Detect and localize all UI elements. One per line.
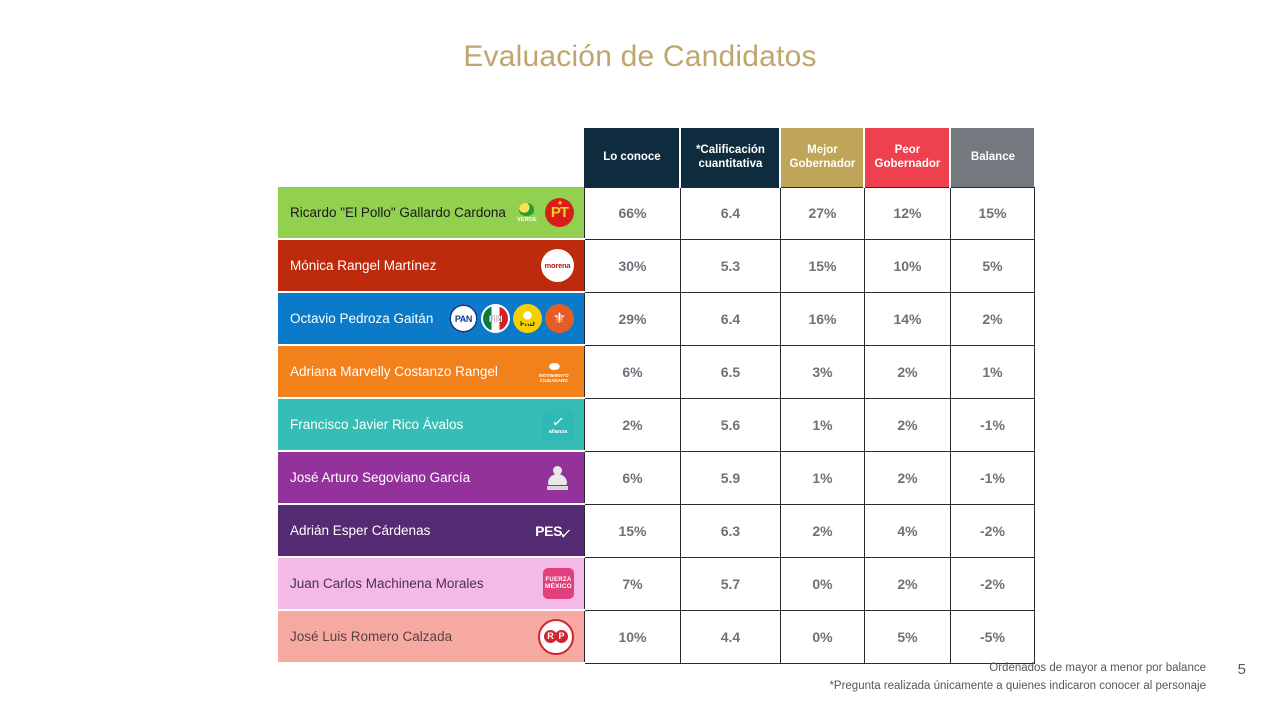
party-logos: RP (538, 619, 574, 655)
mc-label: MOVIMIENTO CIUDADANO (534, 374, 574, 383)
verde-label: VERDE (517, 217, 537, 223)
header-peor-line2: Gobernador (875, 158, 941, 170)
cell-peor-gobernador: 10% (864, 239, 950, 292)
table-row: Mónica Rangel Martínezmorena30%5.315%10%… (278, 239, 1034, 292)
cell-mejor-gobernador: 2% (780, 504, 864, 557)
candidate-name-cell: Octavio Pedroza GaitánPANPRIPRD⚜ (278, 292, 584, 345)
encuentro-social-person-icon (542, 462, 574, 494)
cell-lo-conoce: 6% (584, 345, 680, 398)
candidate-name-cell: José Luis Romero CalzadaRP (278, 610, 584, 663)
candidate-name: José Luis Romero Calzada (290, 629, 452, 644)
cell-lo-conoce: 29% (584, 292, 680, 345)
cell-balance: -1% (950, 451, 1034, 504)
prd-sun-icon (521, 309, 534, 322)
pan-ring-icon: PAN (449, 304, 478, 333)
footnote-ordering: Ordenados de mayor a menor por balance (829, 660, 1206, 678)
pri-icon: PRI (481, 304, 510, 333)
cell-calificacion: 5.7 (680, 557, 780, 610)
cell-mejor-gobernador: 0% (780, 610, 864, 663)
cell-peor-gobernador: 2% (864, 451, 950, 504)
verde-icon: VERDE (512, 199, 542, 227)
cell-calificacion: 5.3 (680, 239, 780, 292)
cell-peor-gobernador: 14% (864, 292, 950, 345)
cell-calificacion: 4.4 (680, 610, 780, 663)
header-balance: Balance (950, 128, 1034, 187)
party-logos: VERDE★PT (512, 198, 574, 227)
mc-wing-icon: ⬬ (549, 360, 559, 373)
cell-lo-conoce: 7% (584, 557, 680, 610)
header-mejor-line2: Gobernador (790, 158, 856, 170)
cell-balance: 1% (950, 345, 1034, 398)
candidate-name-cell: Juan Carlos Machinena MoralesFUERZAMÉXIC… (278, 557, 584, 610)
party-logos: ✓alianza (542, 409, 574, 441)
fuerza-label-line2: MÉXICO (545, 583, 572, 590)
candidate-name: Francisco Javier Rico Ávalos (290, 417, 463, 432)
party-logos (542, 462, 574, 494)
header-blank-cell (278, 128, 584, 187)
cell-peor-gobernador: 2% (864, 345, 950, 398)
header-lo-conoce: Lo conoce (584, 128, 680, 187)
morena-label: morena (545, 261, 571, 270)
party-logos: ⬬MOVIMIENTO CIUDADANO (534, 357, 574, 387)
slide: Evaluación de Candidatos Lo conoce *Cali… (0, 0, 1280, 720)
cell-mejor-gobernador: 1% (780, 398, 864, 451)
cell-balance: 5% (950, 239, 1034, 292)
candidate-name-cell: Ricardo "El Pollo" Gallardo CardonaVERDE… (278, 187, 584, 239)
footnote-question: *Pregunta realizada únicamente a quienes… (829, 678, 1206, 696)
person-body-icon (548, 474, 567, 485)
rsp-icon: RP (538, 619, 574, 655)
header-balance-label: Balance (971, 151, 1015, 163)
table-row: Ricardo "El Pollo" Gallardo CardonaVERDE… (278, 187, 1034, 239)
prd-icon: PRD (513, 304, 542, 333)
cell-calificacion: 6.4 (680, 187, 780, 239)
movimiento-ciudadano-icon: ⬬MOVIMIENTO CIUDADANO (534, 357, 574, 387)
header-peor-line1: Peor (895, 144, 921, 156)
cell-lo-conoce: 6% (584, 451, 680, 504)
cell-peor-gobernador: 2% (864, 557, 950, 610)
cell-lo-conoce: 10% (584, 610, 680, 663)
cell-peor-gobernador: 5% (864, 610, 950, 663)
table-body: Ricardo "El Pollo" Gallardo CardonaVERDE… (278, 187, 1034, 663)
rsp-inner-icon: RP (544, 630, 568, 643)
candidate-name: Ricardo "El Pollo" Gallardo Cardona (290, 205, 506, 220)
header-calificacion-line2: cuantitativa (698, 158, 762, 170)
cell-mejor-gobernador: 1% (780, 451, 864, 504)
cell-balance: -2% (950, 557, 1034, 610)
footnotes: Ordenados de mayor a menor por balance *… (829, 660, 1206, 696)
cell-lo-conoce: 15% (584, 504, 680, 557)
header-mejor-line1: Mejor (807, 144, 838, 156)
page-title: Evaluación de Candidatos (0, 40, 1280, 74)
cell-balance: -2% (950, 504, 1034, 557)
header-mejor-gobernador: Mejor Gobernador (780, 128, 864, 187)
table-row: Octavio Pedroza GaitánPANPRIPRD⚜29%6.416… (278, 292, 1034, 345)
party-logos: PES✓ (534, 517, 574, 545)
alianza-check-icon: ✓ (551, 414, 566, 431)
cell-calificacion: 5.6 (680, 398, 780, 451)
pes-label: PES (535, 523, 562, 539)
table-row: Juan Carlos Machinena MoralesFUERZAMÉXIC… (278, 557, 1034, 610)
cell-balance: -1% (950, 398, 1034, 451)
cell-balance: 2% (950, 292, 1034, 345)
pri-flag-icon: PRI (483, 306, 508, 331)
fuerza-mexico-icon: FUERZAMÉXICO (543, 568, 574, 599)
cell-peor-gobernador: 2% (864, 398, 950, 451)
cell-calificacion: 5.9 (680, 451, 780, 504)
table-row: Adriana Marvelly Costanzo Rangel⬬MOVIMIE… (278, 345, 1034, 398)
table-row: Francisco Javier Rico Ávalos✓alianza2%5.… (278, 398, 1034, 451)
person-base-icon (547, 486, 568, 490)
header-calificacion-line1: *Calificación (696, 144, 765, 156)
cell-peor-gobernador: 4% (864, 504, 950, 557)
pan-icon: PAN (449, 304, 478, 333)
candidate-name-cell: Francisco Javier Rico Ávalos✓alianza (278, 398, 584, 451)
pt-icon: ★PT (545, 198, 574, 227)
candidate-name-cell: Adriana Marvelly Costanzo Rangel⬬MOVIMIE… (278, 345, 584, 398)
header-calificacion: *Calificación cuantitativa (680, 128, 780, 187)
cell-mejor-gobernador: 15% (780, 239, 864, 292)
candidate-name: Octavio Pedroza Gaitán (290, 311, 433, 326)
candidate-name-cell: Adrián Esper CárdenasPES✓ (278, 504, 584, 557)
cell-calificacion: 6.3 (680, 504, 780, 557)
cell-lo-conoce: 2% (584, 398, 680, 451)
party-logos: FUERZAMÉXICO (543, 568, 574, 599)
cell-calificacion: 6.4 (680, 292, 780, 345)
header-peor-gobernador: Peor Gobernador (864, 128, 950, 187)
candidate-name: Juan Carlos Machinena Morales (290, 576, 484, 591)
pes-check-icon: ✓ (559, 524, 573, 543)
candidate-name: Mónica Rangel Martínez (290, 258, 436, 273)
cell-lo-conoce: 66% (584, 187, 680, 239)
verde-tree-icon (519, 203, 534, 216)
cell-mejor-gobernador: 3% (780, 345, 864, 398)
table-row: José Arturo Segoviano García6%5.91%2%-1% (278, 451, 1034, 504)
candidate-name: Adriana Marvelly Costanzo Rangel (290, 364, 498, 379)
party-logos: morena (541, 249, 574, 282)
page-number: 5 (1238, 661, 1246, 678)
cell-calificacion: 6.5 (680, 345, 780, 398)
cell-mejor-gobernador: 0% (780, 557, 864, 610)
conciencia-popular-icon: ⚜ (545, 304, 574, 333)
pes-icon: PES✓ (534, 517, 574, 545)
nueva-alianza-icon: ✓alianza (542, 409, 574, 441)
evaluation-table: Lo conoce *Calificación cuantitativa Mej… (278, 128, 1035, 664)
candidate-name: Adrián Esper Cárdenas (290, 523, 430, 538)
header-lo-conoce-label: Lo conoce (603, 151, 661, 163)
cell-peor-gobernador: 12% (864, 187, 950, 239)
cell-mejor-gobernador: 16% (780, 292, 864, 345)
prd-label: PRD (520, 321, 535, 328)
cell-mejor-gobernador: 27% (780, 187, 864, 239)
cell-lo-conoce: 30% (584, 239, 680, 292)
cell-balance: -5% (950, 610, 1034, 663)
cell-balance: 15% (950, 187, 1034, 239)
table-header-row: Lo conoce *Calificación cuantitativa Mej… (278, 128, 1034, 187)
table-row: Adrián Esper CárdenasPES✓15%6.32%4%-2% (278, 504, 1034, 557)
morena-icon: morena (541, 249, 574, 282)
candidate-name-cell: Mónica Rangel Martínezmorena (278, 239, 584, 292)
party-logos: PANPRIPRD⚜ (449, 304, 574, 333)
candidate-name-cell: José Arturo Segoviano García (278, 451, 584, 504)
cp-glyph-icon: ⚜ (553, 311, 566, 326)
table-row: José Luis Romero CalzadaRP10%4.40%5%-5% (278, 610, 1034, 663)
pt-star-icon: ★ (557, 200, 562, 207)
candidate-name: José Arturo Segoviano García (290, 470, 470, 485)
